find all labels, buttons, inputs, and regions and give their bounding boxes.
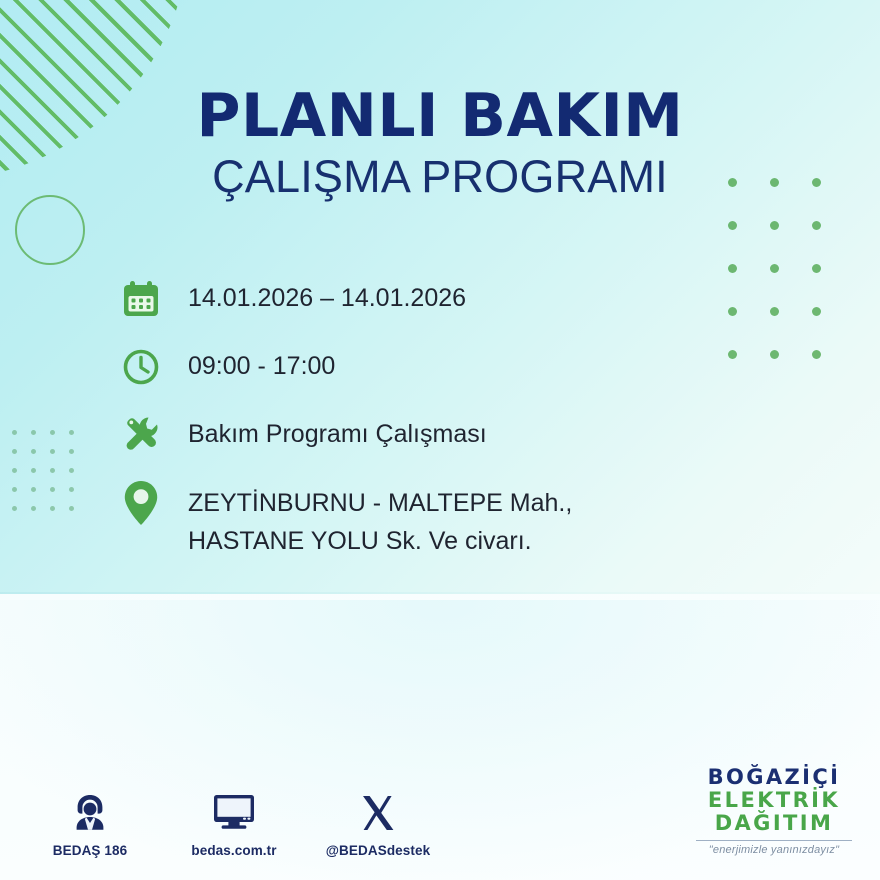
- detail-row-date: 14.01.2026 – 14.01.2026: [118, 276, 758, 322]
- date-range-text: 14.01.2026 – 14.01.2026: [188, 276, 466, 316]
- contact-x-account[interactable]: @BEDASdestek: [326, 788, 430, 858]
- contact-phone[interactable]: BEDAŞ 186: [38, 788, 142, 858]
- title-main: PLANLI BAKIM: [0, 86, 880, 147]
- x-twitter-icon: [357, 788, 399, 834]
- planned-maintenance-poster: PLANLI BAKIM ÇALIŞMA PROGRAMI: [0, 0, 880, 880]
- contact-website-label: bedas.com.tr: [191, 843, 276, 858]
- calendar-icon: [118, 276, 164, 322]
- address-line-1: ZEYTİNBURNU - MALTEPE Mah.,: [188, 484, 572, 522]
- maintenance-details: 14.01.2026 – 14.01.2026 09:00 - 17:00 Ba…: [118, 276, 758, 560]
- page-title: PLANLI BAKIM ÇALIŞMA PROGRAMI: [0, 86, 880, 200]
- brand-tagline: "enerjimizle yanınızdayız": [690, 844, 858, 856]
- time-range-text: 09:00 - 17:00: [188, 344, 335, 384]
- brand-line-1: BOĞAZİÇİ: [690, 766, 858, 789]
- monitor-icon: [210, 788, 258, 834]
- detail-row-location: ZEYTİNBURNU - MALTEPE Mah., HASTANE YOLU…: [118, 480, 758, 560]
- panel-divider: [0, 592, 880, 594]
- address-line-2: HASTANE YOLU Sk. Ve civarı.: [188, 522, 572, 560]
- address-text: ZEYTİNBURNU - MALTEPE Mah., HASTANE YOLU…: [188, 480, 572, 560]
- detail-row-work-type: Bakım Programı Çalışması: [118, 412, 758, 458]
- brand-line-2: ELEKTRİK: [690, 789, 858, 812]
- map-pin-icon: [118, 480, 164, 526]
- tools-icon: [118, 412, 164, 458]
- contact-x-label: @BEDASdestek: [326, 843, 430, 858]
- clock-icon: [118, 344, 164, 390]
- detail-row-time: 09:00 - 17:00: [118, 344, 758, 390]
- work-type-text: Bakım Programı Çalışması: [188, 412, 487, 452]
- dot-grid-left-decoration: [12, 430, 88, 525]
- contact-website[interactable]: bedas.com.tr: [182, 788, 286, 858]
- footer-contacts: BEDAŞ 186 bedas.com.tr @B: [38, 788, 430, 858]
- circle-outline-decoration: [15, 195, 85, 265]
- contact-phone-label: BEDAŞ 186: [53, 843, 127, 858]
- brand-line-3: DAĞITIM: [690, 812, 858, 835]
- call-center-headset-icon: [68, 788, 112, 834]
- bedas-logo: BOĞAZİÇİ ELEKTRİK DAĞITIM "enerjimizle y…: [690, 766, 858, 856]
- brand-divider: [696, 840, 852, 841]
- title-subtitle: ÇALIŞMA PROGRAMI: [0, 153, 880, 200]
